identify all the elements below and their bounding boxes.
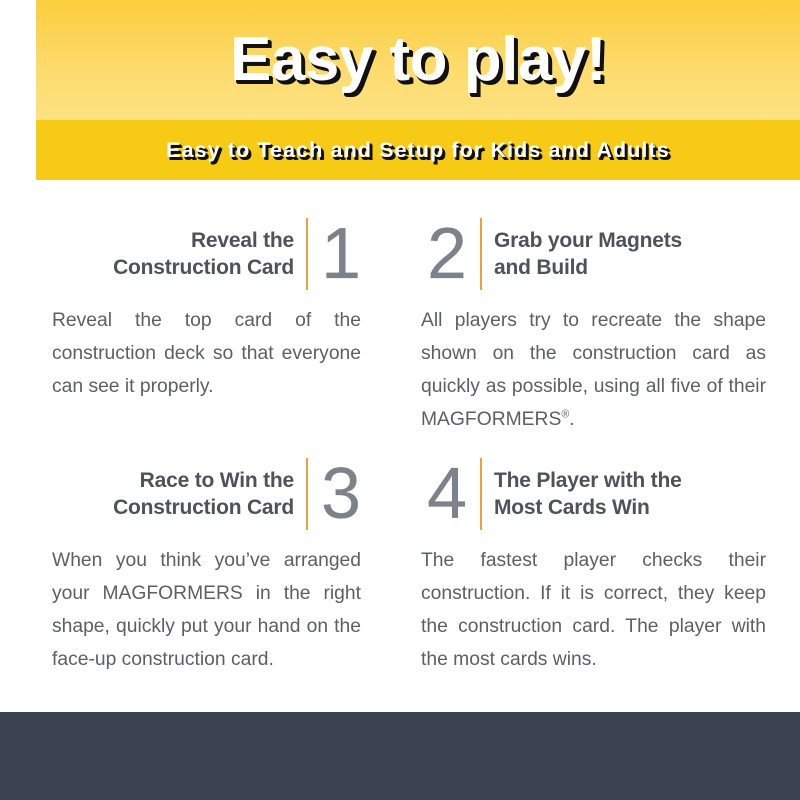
step-2-title: Grab your Magnets and Build <box>494 218 682 281</box>
step-2-body-text: All players try to recreate the shape sh… <box>421 310 766 430</box>
step-4-title: The Player with the Most Cards Win <box>494 458 682 521</box>
step-2-body-period: . <box>569 409 574 430</box>
step-1-body: Reveal the top card of the construction … <box>52 304 367 403</box>
step-item-2: 2 Grab your Magnets and Build All player… <box>395 218 800 436</box>
page-subtitle: Easy to Teach and Setup for Kids and Adu… <box>36 120 800 180</box>
page-title: Easy to play! <box>36 14 800 106</box>
step-2-header: 2 Grab your Magnets and Build <box>421 218 768 296</box>
footer-bar <box>0 712 800 800</box>
step-4-body: The fastest player checks their construc… <box>421 544 768 676</box>
step-3-header: Race to Win the Construction Card 3 <box>52 458 367 536</box>
step-1-title: Reveal the Construction Card <box>113 218 294 281</box>
step-3-divider <box>306 458 308 530</box>
step-3-number: 3 <box>321 458 367 530</box>
step-item-3: Race to Win the Construction Card 3 When… <box>0 458 395 676</box>
step-2-divider <box>480 218 482 290</box>
step-4-divider <box>480 458 482 530</box>
step-4-number: 4 <box>421 458 467 530</box>
step-3-body: When you think you’ve arranged your MAGF… <box>52 544 367 676</box>
registered-trademark-icon: ® <box>561 409 569 421</box>
step-1-header: Reveal the Construction Card 1 <box>52 218 367 296</box>
step-4-header: 4 The Player with the Most Cards Win <box>421 458 768 536</box>
steps-grid: Reveal the Construction Card 1 Reveal th… <box>0 218 800 676</box>
step-1-number: 1 <box>321 218 367 290</box>
step-2-body: All players try to recreate the shape sh… <box>421 304 768 436</box>
step-1-divider <box>306 218 308 290</box>
step-item-4: 4 The Player with the Most Cards Win The… <box>395 458 800 676</box>
step-3-title: Race to Win the Construction Card <box>113 458 294 521</box>
step-2-number: 2 <box>421 218 467 290</box>
step-item-1: Reveal the Construction Card 1 Reveal th… <box>0 218 395 436</box>
header-banner: Easy to play! Easy to Teach and Setup fo… <box>36 0 800 180</box>
